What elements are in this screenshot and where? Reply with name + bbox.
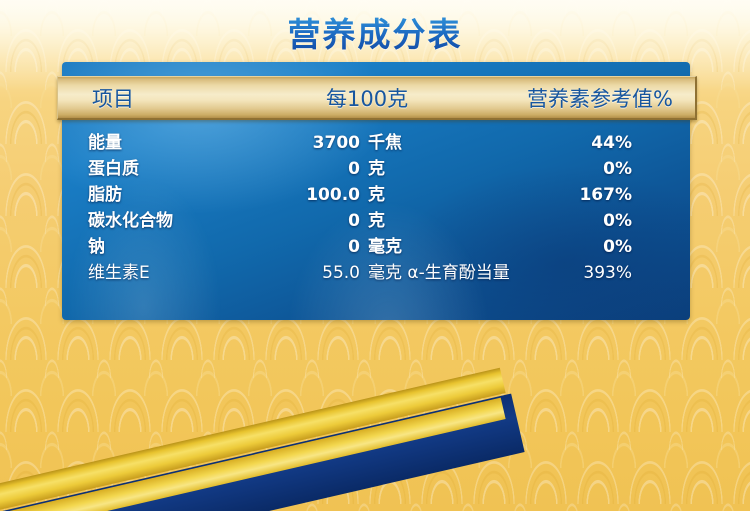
table-row: 蛋白质 0 克 0% bbox=[62, 156, 690, 182]
table-row: 能量 3700 千焦 44% bbox=[62, 130, 690, 156]
bottom-diagonal-ribbon bbox=[0, 361, 750, 511]
row-label: 钠 bbox=[88, 234, 105, 260]
table-header-row: 项目 每100克 营养素参考值% bbox=[57, 76, 697, 120]
row-value: 55.0 bbox=[232, 260, 360, 286]
row-unit: 克 bbox=[368, 182, 385, 208]
row-label: 蛋白质 bbox=[88, 156, 139, 182]
row-unit: 毫克 α-生育酚当量 bbox=[368, 260, 510, 286]
row-percent: 393% bbox=[492, 260, 632, 286]
row-value: 3700 bbox=[232, 130, 360, 156]
row-value: 0 bbox=[232, 208, 360, 234]
header-nrv-label: 营养素参考值% bbox=[527, 83, 673, 113]
row-label: 维生素E bbox=[88, 260, 150, 286]
row-unit: 毫克 bbox=[368, 234, 402, 260]
row-unit: 克 bbox=[368, 156, 385, 182]
header-item-label: 项目 bbox=[92, 83, 134, 113]
table-row: 碳水化合物 0 克 0% bbox=[62, 208, 690, 234]
nutrition-facts-page: 营养成分表 能量 3700 千焦 44% 蛋白质 0 克 0% 脂肪 100.0… bbox=[0, 0, 750, 511]
table-row: 脂肪 100.0 克 167% bbox=[62, 182, 690, 208]
table-row: 钠 0 毫克 0% bbox=[62, 234, 690, 260]
row-unit: 克 bbox=[368, 208, 385, 234]
page-title: 营养成分表 bbox=[0, 8, 750, 56]
row-percent: 167% bbox=[492, 182, 632, 208]
row-percent: 0% bbox=[492, 208, 632, 234]
row-unit: 千焦 bbox=[368, 130, 402, 156]
row-percent: 44% bbox=[492, 130, 632, 156]
row-label: 碳水化合物 bbox=[88, 208, 173, 234]
row-value: 0 bbox=[232, 234, 360, 260]
nutrition-table-body: 能量 3700 千焦 44% 蛋白质 0 克 0% 脂肪 100.0 克 167… bbox=[62, 130, 690, 286]
row-value: 0 bbox=[232, 156, 360, 182]
header-per100g-label: 每100克 bbox=[326, 83, 408, 113]
row-value: 100.0 bbox=[232, 182, 360, 208]
row-label: 脂肪 bbox=[88, 182, 122, 208]
table-row: 维生素E 55.0 毫克 α-生育酚当量 393% bbox=[62, 260, 690, 286]
row-label: 能量 bbox=[88, 130, 122, 156]
row-percent: 0% bbox=[492, 234, 632, 260]
row-percent: 0% bbox=[492, 156, 632, 182]
